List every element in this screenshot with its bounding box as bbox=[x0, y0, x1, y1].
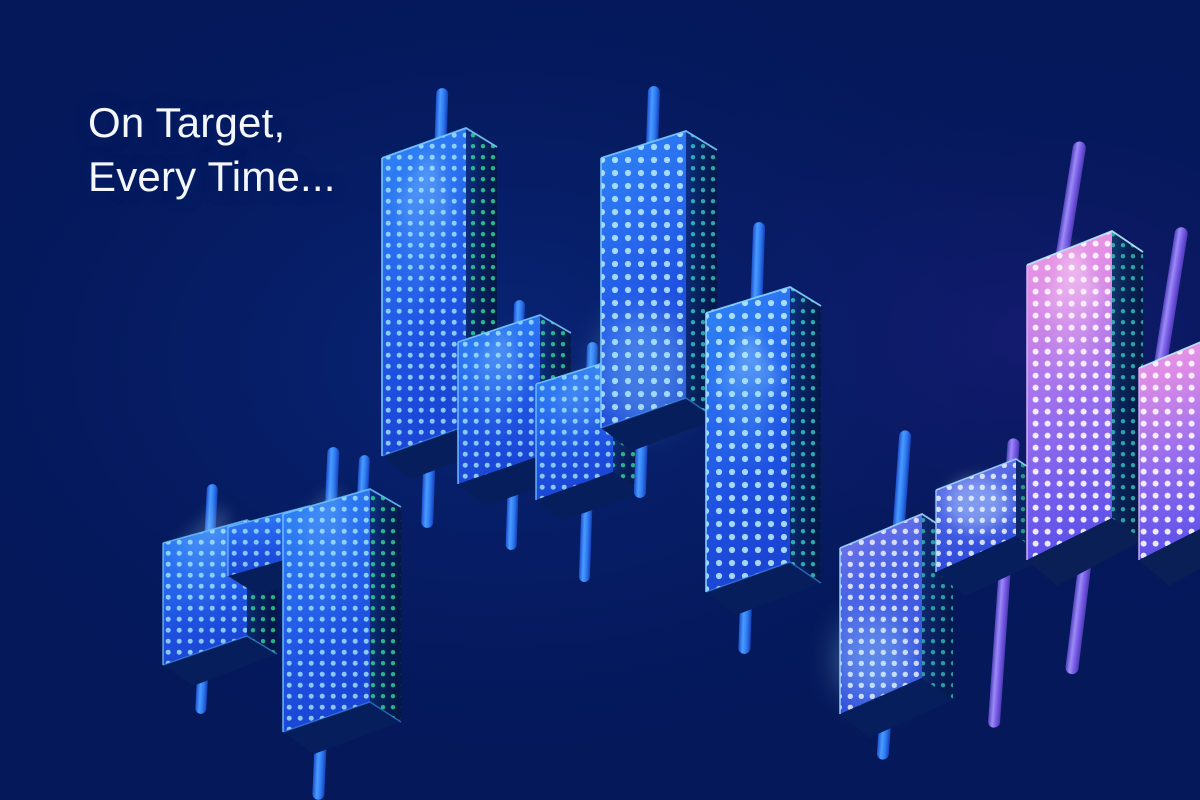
candle-11-body bbox=[1027, 231, 1143, 586]
candle-12-body bbox=[1139, 333, 1200, 586]
candle-8-body bbox=[706, 287, 821, 615]
headline: On Target, Every Time... bbox=[88, 96, 336, 204]
headline-line-1: On Target, bbox=[88, 96, 336, 150]
candle-3-body bbox=[283, 487, 401, 754]
candle-7-body bbox=[599, 131, 717, 451]
headline-line-2: Every Time... bbox=[88, 150, 336, 204]
hero-illustration: On Target, Every Time... bbox=[0, 0, 1200, 800]
